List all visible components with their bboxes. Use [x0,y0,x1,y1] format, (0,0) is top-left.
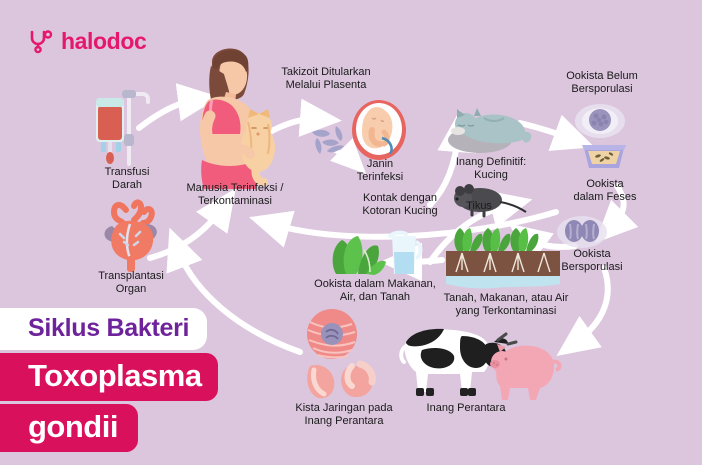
sporulated-oocyst-icon [556,214,608,250]
title-line-1: Siklus Bakteri [0,308,207,350]
stethoscope-icon [28,29,54,55]
heart-organ-icon [96,196,168,274]
cow-pig-icon [398,318,558,400]
label-kista-jaringan: Kista Jaringan pada Inang Perantara [282,402,406,429]
label-inang-perantara: Inang Perantara [404,402,528,415]
iv-blood-bag-icon [86,72,170,168]
brand-logo: halodoc [28,28,146,55]
label-takizoit-plasenta: Takizoit Ditularkan Melalui Plasenta [264,66,388,93]
tachyzoite-cluster-icon [306,118,352,162]
label-tikus: Tikus [448,200,510,213]
label-ookista-belum: Ookista Belum Bersporulasi [548,70,656,97]
tissue-cyst-meat-icon [300,308,402,400]
infographic-canvas: halodoc [0,0,702,465]
label-transfusi-darah: Transfusi Darah [82,166,172,193]
label-tanah-makanan-air: Tanah, Makanan, atau Air yang Terkontami… [430,292,582,319]
label-transplantasi-organ: Transplantasi Organ [76,270,186,297]
label-inang-definitif-kucing: Inang Definitif: Kucing [446,156,536,183]
label-manusia-terinfeksi: Manusia Terinfeksi / Terkontaminasi [160,182,310,209]
title-block: Siklus Bakteri Toxoplasma gondii [0,308,296,452]
label-ookista-makanan: Ookista dalam Makanan, Air, dan Tanah [300,278,450,305]
litter-box-icon [580,140,628,174]
label-kontak-kotoran-kucing: Kontak dengan Kotoran Kucing [340,192,460,219]
cat-icon [444,98,536,154]
label-janin-terinfeksi: Janin Terinfeksi [338,158,422,185]
fetus-in-womb-icon [348,96,410,162]
brand-name: halodoc [61,28,146,55]
title-line-3: gondii [0,404,138,452]
lettuce-soil-water-icon [444,224,562,290]
lettuce-pitcher-icon [330,228,422,278]
title-line-2: Toxoplasma [0,353,218,401]
unsporulated-oocyst-icon [574,102,626,140]
label-ookista-feses: Ookista dalam Feses [563,178,647,205]
